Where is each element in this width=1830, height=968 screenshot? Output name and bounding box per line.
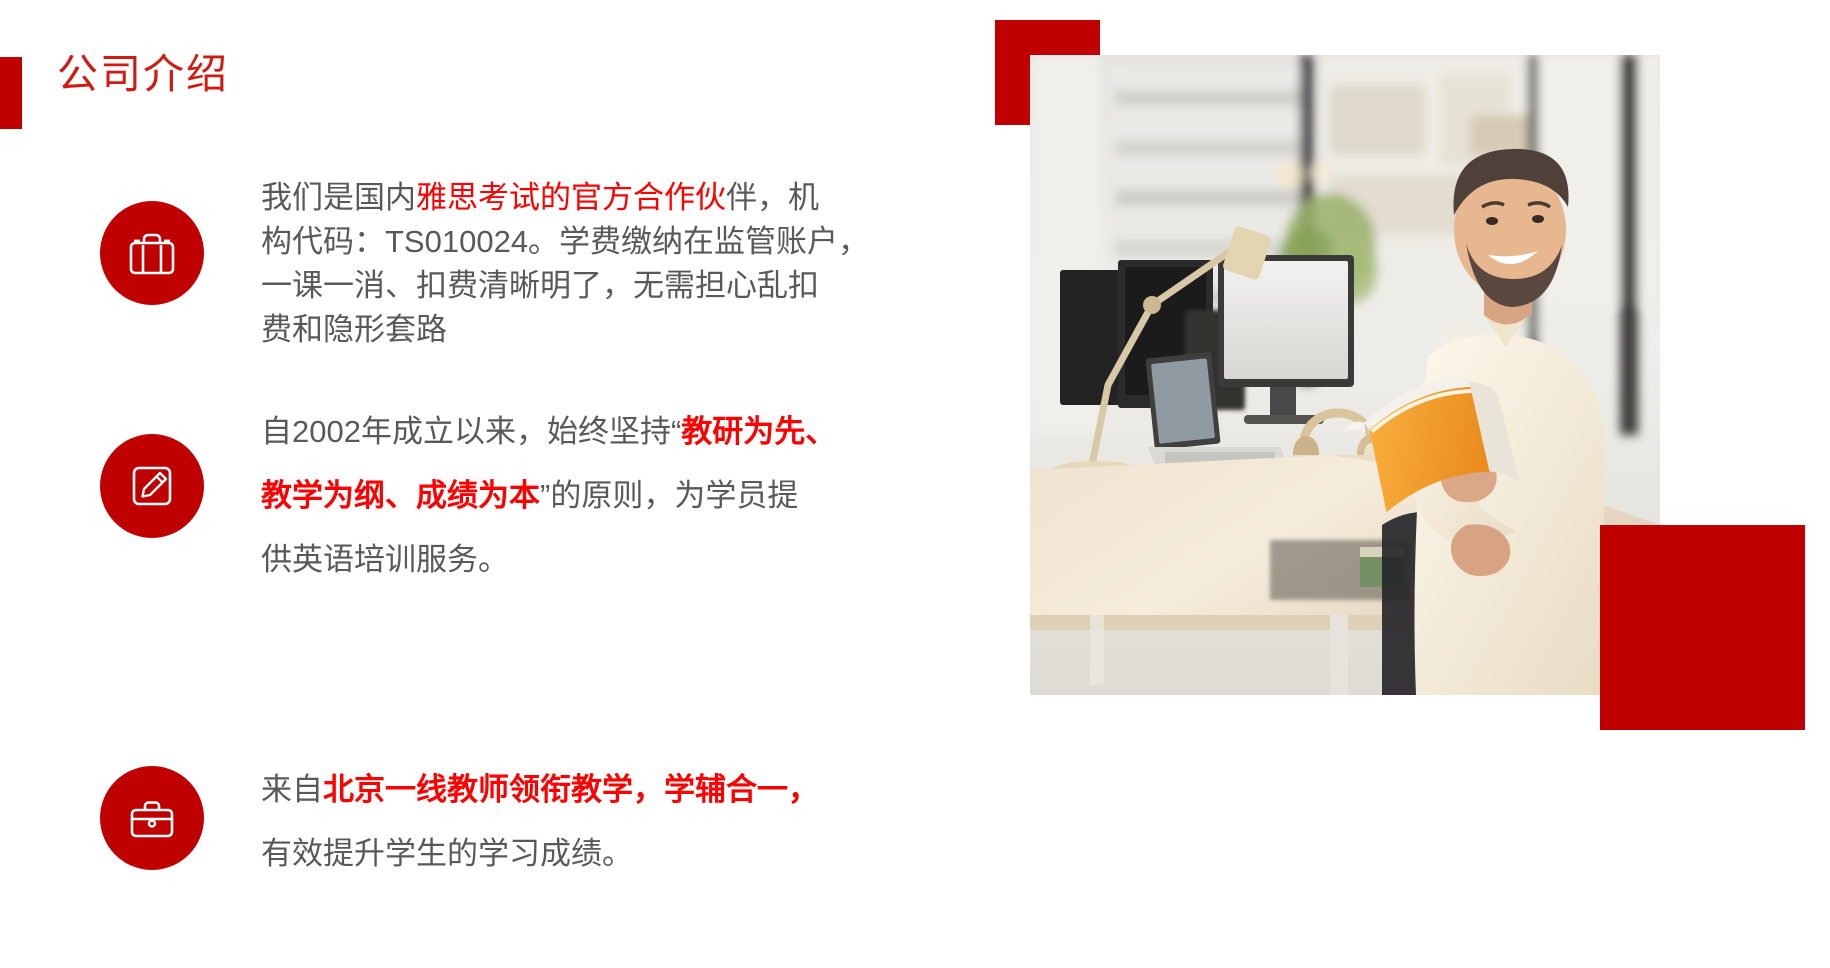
line-segment: 我们是国内	[261, 180, 416, 215]
line-segment-highlight: 北京一线教师领衔教学，学辅合一，	[323, 772, 819, 807]
office-man-reading-book-photo	[1030, 55, 1660, 695]
text-line: 构代码：TS010024。学费缴纳在监管账户，	[261, 220, 871, 264]
line-segment: 自2002年成立以来，始终坚持“	[261, 414, 681, 449]
text-line: 来自北京一线教师领衔教学，学辅合一，	[261, 758, 871, 822]
pencil-edit-icon	[100, 434, 204, 538]
feature-text-2: 自2002年成立以来，始终坚持“教研为先、 教学为纲、成绩为本”的原则，为学员提…	[261, 400, 871, 592]
feature-text-1: 我们是国内雅思考试的官方合作伙伴，机 构代码：TS010024。学费缴纳在监管账…	[261, 176, 871, 352]
line-segment: 来自	[261, 772, 323, 807]
line-segment: 有效提升学生的学习成绩。	[261, 836, 633, 871]
line-segment-highlight: 雅思考试的官方合作伙	[416, 180, 726, 215]
text-line: 自2002年成立以来，始终坚持“教研为先、	[261, 400, 871, 464]
text-line: 有效提升学生的学习成绩。	[261, 822, 871, 886]
line-segment: 一课一消、扣费清晰明了，无需担心乱扣	[261, 268, 819, 303]
line-segment-highlight: 教学为纲、成绩为本	[261, 478, 540, 513]
line-segment: 伴，机	[726, 180, 819, 215]
briefcase-icon	[100, 766, 204, 870]
briefcase-icon	[100, 201, 204, 305]
content-blocks: 我们是国内雅思考试的官方合作伙伴，机 构代码：TS010024。学费缴纳在监管账…	[0, 0, 980, 968]
line-segment-highlight: 教研为先、	[681, 414, 836, 449]
slide-root: 公司介绍 我们是国内雅思考试的官方合作伙伴，机 构代码：TS	[0, 0, 1830, 968]
line-segment: 供英语培训服务。	[261, 542, 509, 577]
text-line: 我们是国内雅思考试的官方合作伙伴，机	[261, 176, 871, 220]
text-line: 费和隐形套路	[261, 308, 871, 352]
text-line: 一课一消、扣费清晰明了，无需担心乱扣	[261, 264, 871, 308]
line-segment: ”的原则，为学员提	[540, 478, 798, 513]
feature-text-3: 来自北京一线教师领衔教学，学辅合一， 有效提升学生的学习成绩。	[261, 758, 871, 886]
accent-square-bottom-right	[1600, 525, 1805, 730]
line-segment: 费和隐形套路	[261, 312, 447, 347]
photo-composition	[980, 0, 1830, 968]
text-line: 教学为纲、成绩为本”的原则，为学员提	[261, 464, 871, 528]
text-line: 供英语培训服务。	[261, 528, 871, 592]
line-segment: 构代码：TS010024。学费缴纳在监管账户，	[261, 224, 869, 259]
